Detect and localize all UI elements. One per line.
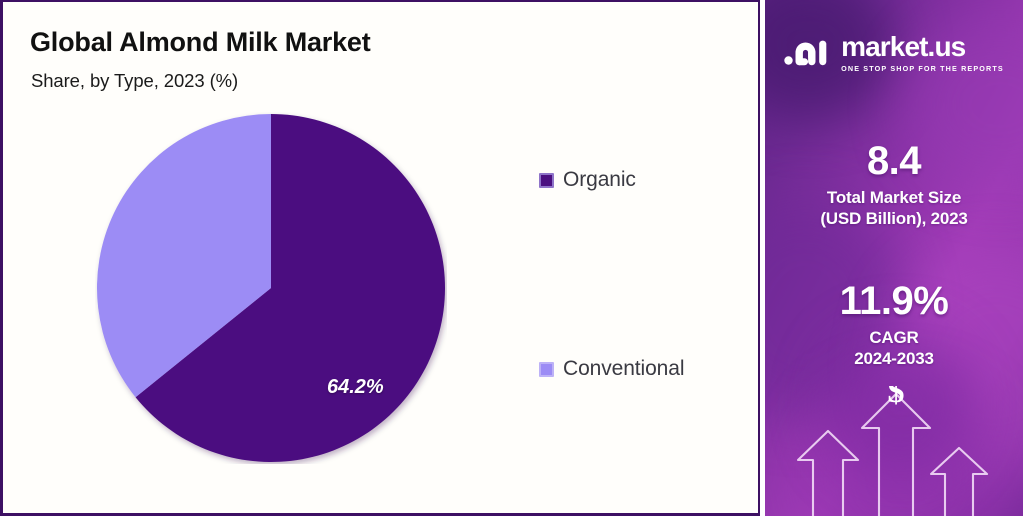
- brand-logo[interactable]: market.us ONE STOP SHOP FOR THE REPORTS: [765, 33, 1023, 72]
- legend-swatch-organic-icon: [539, 173, 554, 188]
- growth-arrows-illustration: $: [765, 386, 1023, 516]
- brand-tagline: ONE STOP SHOP FOR THE REPORTS: [841, 65, 1004, 72]
- legend-swatch-conventional-icon: [539, 362, 554, 377]
- stat-value-cagr: 11.9%: [765, 280, 1023, 322]
- stat-label-cagr: CAGR 2024-2033: [765, 328, 1023, 369]
- stat-label-line1: CAGR: [765, 328, 1023, 349]
- page-title: Global Almond Milk Market: [30, 27, 371, 58]
- stat-label-line1: Total Market Size: [765, 188, 1023, 209]
- arrow-up-left-icon: [798, 431, 858, 516]
- legend-item-conventional[interactable]: Conventional: [539, 357, 684, 381]
- legend-item-organic[interactable]: Organic: [539, 168, 636, 192]
- stat-label-line2: 2024-2033: [765, 349, 1023, 370]
- pie-chart-svg: [95, 112, 447, 464]
- legend-label-conventional: Conventional: [563, 357, 684, 381]
- dollar-sign-icon: $: [888, 386, 905, 410]
- arrow-up-right-icon: [931, 448, 987, 516]
- brand-wordmark: market.us: [841, 33, 1004, 61]
- pie-slice-label-organic: 64.2%: [327, 376, 384, 399]
- market-us-logo-icon: [784, 36, 832, 70]
- brand-panel: market.us ONE STOP SHOP FOR THE REPORTS …: [765, 0, 1023, 516]
- stat-value-total-market-size: 8.4: [765, 140, 1023, 182]
- chart-panel: Global Almond Milk Market Share, by Type…: [0, 0, 760, 516]
- infographic-canvas: Global Almond Milk Market Share, by Type…: [0, 0, 1023, 516]
- stat-label-line2: (USD Billion), 2023: [765, 209, 1023, 230]
- arrow-up-center-icon: [862, 394, 930, 516]
- pie-chart: 64.2%: [95, 112, 447, 464]
- stat-total-market-size: 8.4 Total Market Size (USD Billion), 202…: [765, 140, 1023, 229]
- legend-label-organic: Organic: [563, 168, 636, 192]
- brand-logo-text: market.us ONE STOP SHOP FOR THE REPORTS: [841, 33, 1004, 72]
- stat-cagr: 11.9% CAGR 2024-2033: [765, 280, 1023, 369]
- chart-subtitle: Share, by Type, 2023 (%): [31, 70, 238, 92]
- stat-label-total-market-size: Total Market Size (USD Billion), 2023: [765, 188, 1023, 229]
